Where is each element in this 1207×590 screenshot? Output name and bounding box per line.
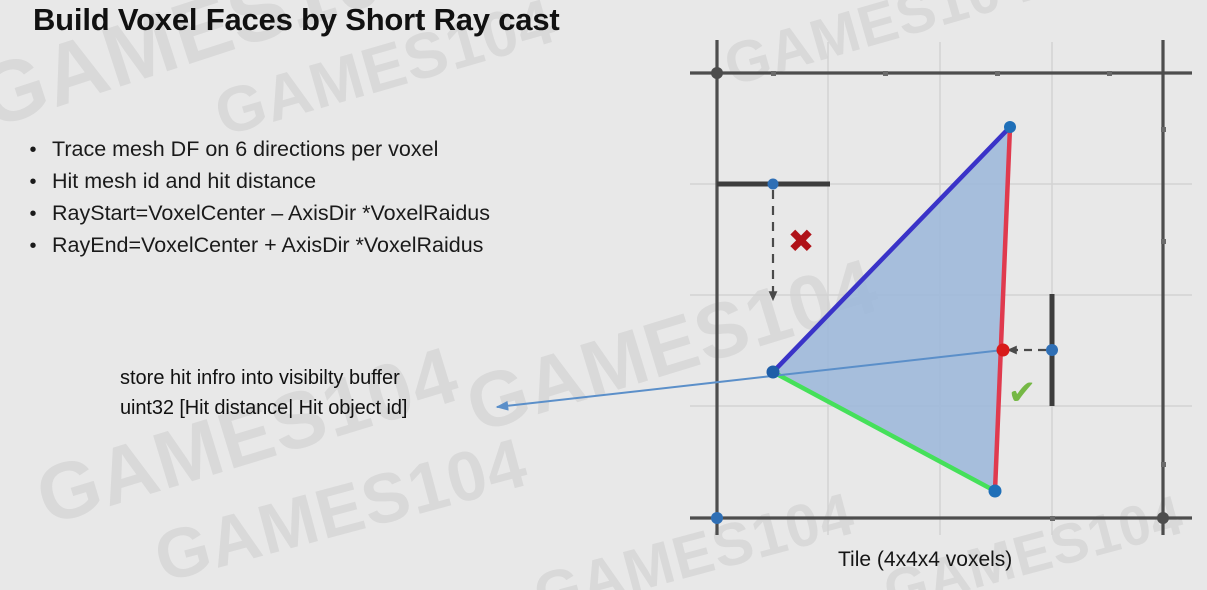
bullet-marker-icon: • <box>14 204 52 224</box>
list-item-label: RayEnd=VoxelCenter + AxisDir *VoxelRaidu… <box>52 233 483 258</box>
triangle-vertex-left-dot <box>767 366 780 379</box>
list-item: • RayStart=VoxelCenter – AxisDir *VoxelR… <box>14 201 490 233</box>
triangle-vertex-bottom-dot <box>989 485 1002 498</box>
tile-corner-bottom-right-dot <box>1157 512 1169 524</box>
bullet-marker-icon: • <box>14 140 52 160</box>
list-item-label: Hit mesh id and hit distance <box>52 169 316 194</box>
bullet-marker-icon: • <box>14 236 52 256</box>
list-item-label: Trace mesh DF on 6 directions per voxel <box>52 137 438 162</box>
annotation-line-2: uint32 [Hit distance| Hit object id] <box>120 393 407 423</box>
hit-point-dot <box>997 344 1010 357</box>
list-item: • RayEnd=VoxelCenter + AxisDir *VoxelRai… <box>14 233 490 265</box>
bullet-list: • Trace mesh DF on 6 directions per voxe… <box>14 137 490 265</box>
list-item: • Trace mesh DF on 6 directions per voxe… <box>14 137 490 169</box>
page-title: Build Voxel Faces by Short Ray cast <box>33 2 560 38</box>
tile-corner-bottom-left-dot <box>711 512 723 524</box>
triangle-vertex-top-dot <box>1004 121 1016 133</box>
voxel-tile-diagram: ✖ ✔ <box>0 0 1207 590</box>
hit-check-icon: ✔ <box>1008 373 1037 413</box>
tile-corner-top-left-dot <box>711 67 723 79</box>
bullet-marker-icon: • <box>14 172 52 192</box>
list-item: • Hit mesh id and hit distance <box>14 169 490 201</box>
miss-cross-icon: ✖ <box>788 222 815 260</box>
voxel-center-miss-dot <box>768 179 779 190</box>
visibility-buffer-annotation: store hit infro into visibilty buffer ui… <box>120 363 407 423</box>
annotation-line-1: store hit infro into visibilty buffer <box>120 363 407 393</box>
tile-caption: Tile (4x4x4 voxels) <box>838 548 1012 572</box>
list-item-label: RayStart=VoxelCenter – AxisDir *VoxelRai… <box>52 201 490 226</box>
voxel-center-hit-dot <box>1046 344 1058 356</box>
